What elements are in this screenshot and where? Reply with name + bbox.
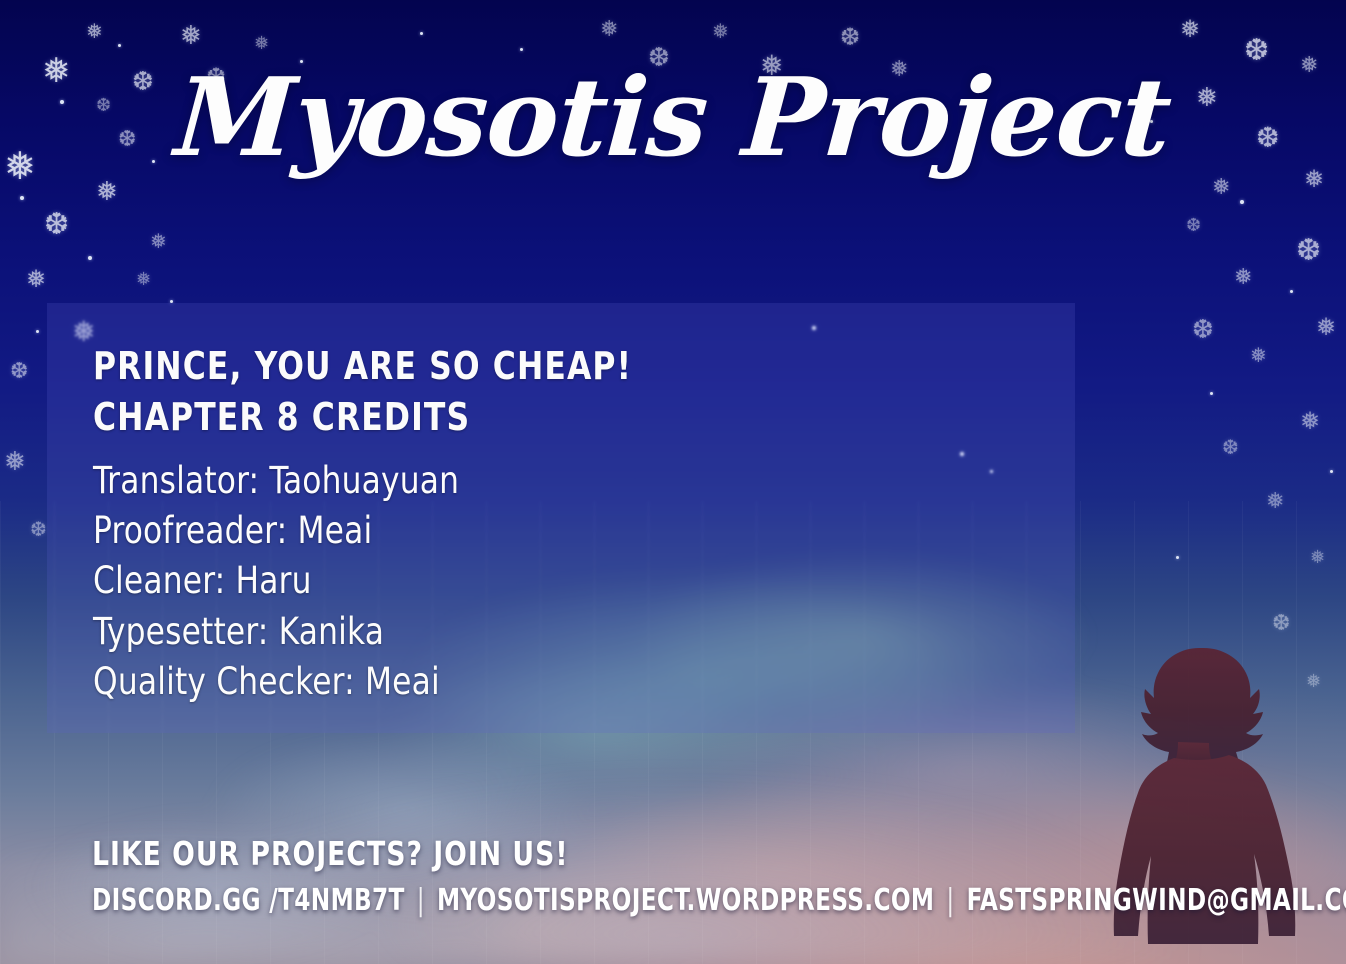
credits-page: ❅ ❅ ❆ ❅ ❆ ❅ ❅ ❆ ❅ ❆ ❅ ❅ ❆ ❅ ❆ ❅ ❆ ❅ ❅ ❆ … [0,0,1346,964]
separator-icon: | [946,883,954,918]
discord-link[interactable]: Discord.gg /T4NmB7T [92,883,405,918]
footer-links: Discord.gg /T4NmB7T | myosotisproject.wo… [92,883,1346,918]
chapter-heading: Chapter 8 Credits [93,392,978,443]
credit-row: Quality Checker: Meai [93,657,997,707]
credit-row: Translator: Taohuayuan [93,456,997,506]
join-us-cta: Like our projects? Join us! [92,834,1346,873]
separator-icon: | [417,883,425,918]
series-title: Prince, You Are So Cheap! [93,341,978,392]
group-title: Myosotis Project [0,62,1346,175]
credit-role-list: Translator: Taohuayuan Proofreader: Meai… [93,456,1055,708]
credits-panel: Prince, You Are So Cheap! Chapter 8 Cred… [47,303,1075,733]
credit-row: Cleaner: Haru [93,556,997,606]
credits-content: Prince, You Are So Cheap! Chapter 8 Cred… [93,341,1055,707]
website-link[interactable]: myosotisproject.wordpress.com [437,883,934,918]
footer: Like our projects? Join us! Discord.gg /… [92,834,1346,918]
credit-row: Proofreader: Meai [93,506,997,556]
email-link[interactable]: fastspringwind@gmail.com [967,883,1346,918]
credit-row: Typesetter: Kanika [93,607,997,657]
